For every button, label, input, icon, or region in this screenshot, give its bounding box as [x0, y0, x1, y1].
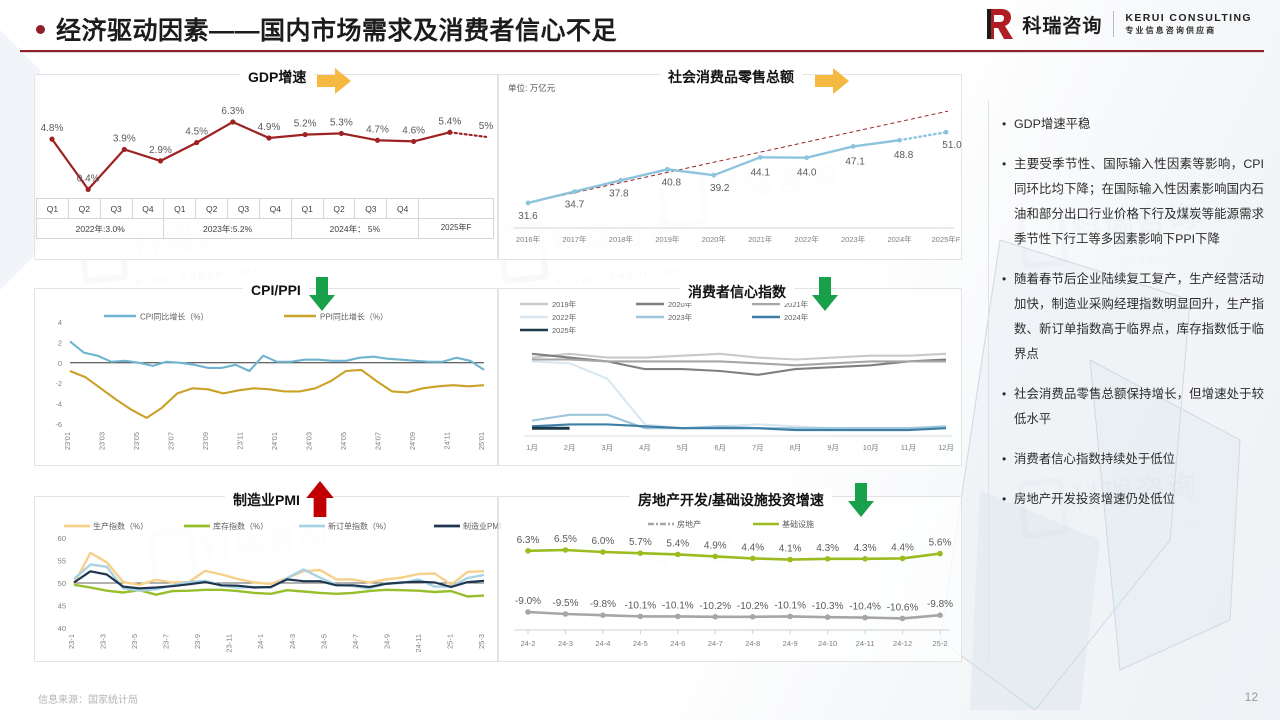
- gdp-year-cell: 2025年F: [419, 219, 494, 239]
- pmi-x-tick: 23-7: [162, 634, 171, 649]
- insight-bullet: 主要受季节性、国际输入性因素等影响，CPI同环比均下降；在国际输入性因素影响国内…: [1002, 152, 1264, 252]
- pmi-x-tick: 25-1: [446, 634, 455, 649]
- confidence-x-tick: 3月: [601, 443, 613, 452]
- realestate-data-label: -9.8%: [927, 599, 953, 610]
- retail-x-tick: 2019年: [655, 234, 680, 244]
- chart-title-realestate: 房地产开发/基础设施投资增速: [630, 489, 832, 511]
- chart-title-pmi: 制造业PMI: [225, 489, 308, 511]
- realestate-chart: 房地产基础设施6.3%6.5%6.0%5.7%5.4%4.9%4.4%4.1%4…: [498, 496, 960, 660]
- realestate-data-label: -10.1%: [774, 600, 806, 611]
- chart-title-retail: 社会消费品零售总额: [660, 66, 802, 88]
- realestate-data-label: 4.4%: [891, 542, 914, 553]
- realestate-data-label: 5.6%: [929, 538, 952, 549]
- realestate-x-tick: 24-12: [893, 639, 912, 648]
- pmi-x-tick: 24-9: [382, 634, 391, 649]
- pmi-x-tick: 25-3: [477, 634, 486, 649]
- realestate-data-label: 4.3%: [816, 543, 839, 554]
- gdp-quarter-cell: Q1: [291, 199, 323, 219]
- confidence-x-tick: 2月: [564, 443, 576, 452]
- pmi-y-tick: 40: [58, 624, 66, 633]
- realestate-data-label: 4.9%: [704, 540, 727, 551]
- realestate-data-label: -9.8%: [590, 599, 616, 610]
- retail-data-label: 39.2: [710, 183, 730, 194]
- retail-data-label: 31.6: [518, 211, 538, 222]
- retail-x-tick: 2018年: [609, 234, 634, 244]
- cpi-legend-label: PPI同比增长（%）: [320, 312, 388, 322]
- confidence-legend-label: 2023年: [668, 312, 693, 322]
- confidence-x-tick: 7月: [752, 443, 764, 452]
- gdp-quarter-cell: Q3: [100, 199, 132, 219]
- header-rule-secondary: [20, 52, 1264, 53]
- pmi-x-tick: 24-7: [351, 634, 360, 649]
- logo-english-block: KERUI CONSULTING 专业信息咨询供应商: [1125, 12, 1252, 35]
- gdp-quarter-cell: Q2: [68, 199, 100, 219]
- gdp-quarter-cell: Q1: [164, 199, 196, 219]
- table-row-years: 2022年:3.0%2023年:5.2%2024年： 5%2025年F: [37, 219, 494, 239]
- realestate-x-tick: 24-5: [633, 639, 648, 648]
- confidence-legend-label: 2022年: [552, 312, 577, 322]
- gdp-quarter-cell: Q4: [387, 199, 419, 219]
- gdp-year-cell: 2023年:5.2%: [164, 219, 291, 239]
- pmi-legend-label: 新订单指数（%）: [328, 521, 391, 531]
- confidence-x-tick: 9月: [827, 443, 839, 452]
- retail-data-label: 44.1: [750, 167, 770, 178]
- arrow-down-icon-cpi: [309, 277, 335, 311]
- gdp-data-label: 5.3%: [330, 117, 353, 128]
- insights-list: GDP增速平稳主要受季节性、国际输入性因素等影响，CPI同环比均下降；在国际输入…: [1002, 112, 1264, 527]
- pmi-y-tick: 60: [58, 534, 66, 543]
- cpi-y-tick: 2: [58, 338, 62, 347]
- realestate-x-tick: 24-10: [818, 639, 837, 648]
- realestate-data-label: -9.0%: [515, 596, 541, 607]
- confidence-x-tick: 8月: [790, 443, 802, 452]
- page-number: 12: [1245, 690, 1258, 704]
- realestate-x-tick: 24-11: [856, 639, 875, 648]
- gdp-year-cell: 2022年:3.0%: [37, 219, 164, 239]
- cpi-x-tick: 25'01: [477, 432, 486, 450]
- header-bullet-icon: [36, 25, 45, 34]
- retail-x-tick: 2023年: [841, 234, 866, 244]
- realestate-data-label: 4.4%: [741, 542, 764, 553]
- pmi-legend-label: 制造业PMI: [463, 521, 501, 531]
- realestate-data-label: 6.0%: [592, 536, 615, 547]
- gdp-quarter-cell: Q4: [132, 199, 164, 219]
- insight-bullet: 房地产开发投资增速仍处低位: [1002, 487, 1264, 512]
- realestate-data-label: -10.3%: [812, 601, 844, 612]
- gdp-chart: 4.8%0.4%3.9%2.9%4.5%6.3%4.9%5.2%5.3%4.7%…: [34, 86, 496, 198]
- realestate-data-label: 4.1%: [779, 544, 802, 555]
- gdp-data-label: 6.3%: [221, 106, 244, 117]
- logo-english-bottom: 专业信息咨询供应商: [1125, 26, 1252, 36]
- realestate-x-tick: 24-9: [783, 639, 798, 648]
- arrow-down-icon-confidence: [812, 277, 838, 311]
- realestate-data-label: 5.7%: [629, 537, 652, 548]
- realestate-data-label: -10.2%: [699, 601, 731, 612]
- cpi-x-tick: 23'05: [132, 432, 141, 450]
- gdp-quarter-cell: Q3: [228, 199, 260, 219]
- realestate-legend-label: 基础设施: [782, 519, 814, 529]
- cpi-legend-label: CPI同比增长（%）: [140, 312, 208, 322]
- retail-data-label: 34.7: [565, 200, 585, 211]
- logo-english-top: KERUI CONSULTING: [1125, 12, 1252, 25]
- pmi-x-tick: 23-5: [130, 634, 139, 649]
- realestate-data-label: 6.5%: [554, 534, 577, 545]
- source-note: 信息来源：国家统计局: [38, 691, 138, 706]
- confidence-x-tick: 12月: [938, 443, 954, 452]
- pmi-x-tick: 24-3: [288, 634, 297, 649]
- gdp-quarter-cell: [419, 199, 494, 219]
- gdp-quarter-cell: Q1: [37, 199, 69, 219]
- retail-x-tick: 2024年: [887, 234, 912, 244]
- gdp-data-label: 4.8%: [41, 123, 64, 134]
- confidence-legend-label: 2024年: [784, 312, 809, 322]
- gdp-quarter-cell: Q2: [323, 199, 355, 219]
- insight-bullet: 消费者信心指数持续处于低位: [1002, 447, 1264, 472]
- realestate-x-tick: 24-3: [558, 639, 573, 648]
- cpi-ppi-chart: 420-2-4-6CPI同比增长（%）PPI同比增长（%）23'0123'032…: [34, 288, 496, 464]
- realestate-data-label: -10.6%: [887, 602, 919, 613]
- confidence-x-tick: 1月: [526, 443, 538, 452]
- cpi-y-tick: 0: [58, 359, 62, 368]
- gdp-quarter-cell: Q4: [259, 199, 291, 219]
- logo-chinese-text: 科瑞咨询: [1022, 11, 1102, 38]
- retail-data-label: 37.8: [609, 188, 629, 199]
- realestate-data-label: -10.1%: [625, 600, 657, 611]
- pmi-y-tick: 55: [58, 557, 66, 566]
- pmi-x-tick: 23-1: [67, 634, 76, 649]
- realestate-data-label: -10.2%: [737, 601, 769, 612]
- realestate-x-tick: 24-6: [670, 639, 685, 648]
- arrow-down-icon-realestate: [848, 483, 874, 517]
- chart-title-consumer-confidence: 消费者信心指数: [680, 281, 794, 303]
- cpi-x-tick: 23'03: [98, 432, 107, 450]
- confidence-x-tick: 11月: [901, 443, 916, 452]
- cpi-x-tick: 24'01: [270, 432, 279, 450]
- logo-divider: [1113, 11, 1114, 37]
- cpi-x-tick: 23'11: [236, 432, 245, 450]
- retail-x-tick: 2020年: [702, 234, 727, 244]
- pmi-legend-label: 库存指数（%）: [213, 521, 268, 531]
- cpi-y-tick: 4: [58, 318, 62, 327]
- pmi-x-tick: 23-3: [99, 634, 108, 649]
- cpi-x-tick: 23'01: [63, 432, 72, 450]
- pmi-legend-label: 生产指数（%）: [93, 521, 148, 531]
- pmi-x-tick: 23-9: [193, 634, 202, 649]
- gdp-data-label: 2.9%: [149, 145, 172, 156]
- gdp-quarter-cell: Q2: [196, 199, 228, 219]
- insight-bullet: 随着春节后企业陆续复工复产，生产经营活动加快，制造业采购经理指数明显回升，生产指…: [1002, 267, 1264, 367]
- gdp-data-label: 4.7%: [366, 124, 389, 135]
- chart-title-cpi-ppi: CPI/PPI: [243, 281, 309, 299]
- cpi-x-tick: 23'09: [201, 432, 210, 450]
- cpi-x-tick: 23'07: [167, 432, 176, 450]
- realestate-legend-label: 房地产: [677, 519, 701, 529]
- retail-x-tick: 2022年: [795, 234, 820, 244]
- realestate-data-label: 4.3%: [854, 543, 877, 554]
- pmi-y-tick: 45: [58, 602, 66, 611]
- retail-data-label: 44.0: [797, 168, 817, 179]
- gdp-data-label: 3.9%: [113, 133, 136, 144]
- realestate-x-tick: 24-8: [745, 639, 760, 648]
- cpi-y-tick: -6: [55, 420, 62, 429]
- gdp-data-label: 0.4%: [77, 173, 100, 184]
- gdp-quarter-cell: Q3: [355, 199, 387, 219]
- retail-x-tick: 2016年: [516, 234, 541, 244]
- confidence-legend-label: 2025年: [552, 325, 577, 335]
- arrow-right-icon-gdp: [317, 68, 351, 94]
- retail-data-label: 47.1: [845, 156, 865, 167]
- cpi-x-tick: 24'03: [305, 432, 314, 450]
- table-row-quarters: Q1Q2Q3Q4Q1Q2Q3Q4Q1Q2Q3Q4: [37, 199, 494, 219]
- arrow-up-icon-pmi: [306, 481, 334, 517]
- gdp-data-label: 5.4%: [438, 116, 461, 127]
- realestate-data-label: -9.5%: [552, 598, 578, 609]
- cpi-x-tick: 24'05: [339, 432, 348, 450]
- realestate-x-tick: 24-2: [520, 639, 535, 648]
- gdp-year-cell: 2024年： 5%: [291, 219, 418, 239]
- gdp-data-label: 4.9%: [258, 122, 281, 133]
- cpi-y-tick: -4: [55, 400, 62, 409]
- retail-x-tick: 2025年F: [932, 234, 961, 244]
- retail-x-tick: 2017年: [562, 234, 587, 244]
- confidence-legend-label: 2019年: [552, 299, 577, 309]
- consumer-confidence-chart: 2019年2020年2021年2022年2023年2024年2025年1月2月3…: [498, 288, 960, 464]
- confidence-x-tick: 6月: [714, 443, 726, 452]
- brand-logo: 科瑞咨询 KERUI CONSULTING 专业信息咨询供应商: [985, 8, 1252, 40]
- realestate-x-tick: 24-7: [708, 639, 723, 648]
- cpi-y-tick: -2: [55, 379, 62, 388]
- pmi-x-tick: 24-11: [414, 634, 423, 653]
- chart-title-gdp: GDP增速: [240, 66, 314, 88]
- realestate-x-tick: 24-4: [595, 639, 610, 648]
- cpi-x-tick: 24'09: [408, 432, 417, 450]
- realestate-data-label: 5.4%: [666, 538, 689, 549]
- retail-x-tick: 2021年: [748, 234, 773, 244]
- retail-data-label: 48.8: [894, 150, 914, 161]
- kerui-logo-icon: [985, 8, 1015, 40]
- cpi-x-tick: 24'07: [374, 432, 383, 450]
- confidence-x-tick: 10月: [863, 443, 879, 452]
- gdp-data-label: 5%: [479, 121, 494, 132]
- retail-chart: 31.634.737.840.839.244.144.047.148.851.0…: [498, 74, 960, 258]
- realestate-data-label: 6.3%: [517, 535, 540, 546]
- sidebar-divider: [988, 100, 989, 660]
- arrow-right-icon-retail: [815, 68, 849, 94]
- pmi-x-tick: 24-1: [256, 634, 265, 649]
- gdp-data-label: 4.5%: [185, 127, 208, 138]
- retail-data-label: 40.8: [662, 177, 682, 188]
- slide-header: 经济驱动因素——国内市场需求及消费者信心不足 科瑞咨询 KERUI CONSUL…: [0, 0, 1280, 52]
- cpi-x-tick: 24'11: [443, 432, 452, 450]
- pmi-x-tick: 24-5: [319, 634, 328, 649]
- realestate-data-label: -10.4%: [849, 602, 881, 613]
- realestate-data-label: -10.1%: [662, 600, 694, 611]
- realestate-x-tick: 25-2: [932, 639, 947, 648]
- retail-data-label: 51.0: [942, 140, 962, 151]
- insight-bullet: GDP增速平稳: [1002, 112, 1264, 137]
- insight-bullet: 社会消费品零售总额保持增长，但增速处于较低水平: [1002, 382, 1264, 432]
- gdp-quarter-table: Q1Q2Q3Q4Q1Q2Q3Q4Q1Q2Q3Q4 2022年:3.0%2023年…: [36, 198, 494, 239]
- gdp-data-label: 4.6%: [402, 125, 425, 136]
- pmi-x-tick: 23-11: [225, 634, 234, 653]
- confidence-x-tick: 5月: [677, 443, 689, 452]
- confidence-x-tick: 4月: [639, 443, 651, 452]
- pmi-chart: 6055504540生产指数（%）库存指数（%）新订单指数（%）制造业PMI23…: [34, 496, 496, 660]
- slide-root: 科瑞咨询 KERUI CONSULTING 科瑞咨询 KERUI CONSULT…: [0, 0, 1280, 720]
- gdp-data-label: 5.2%: [294, 119, 317, 130]
- pmi-y-tick: 50: [58, 579, 66, 588]
- page-title: 经济驱动因素——国内市场需求及消费者信心不足: [56, 11, 617, 47]
